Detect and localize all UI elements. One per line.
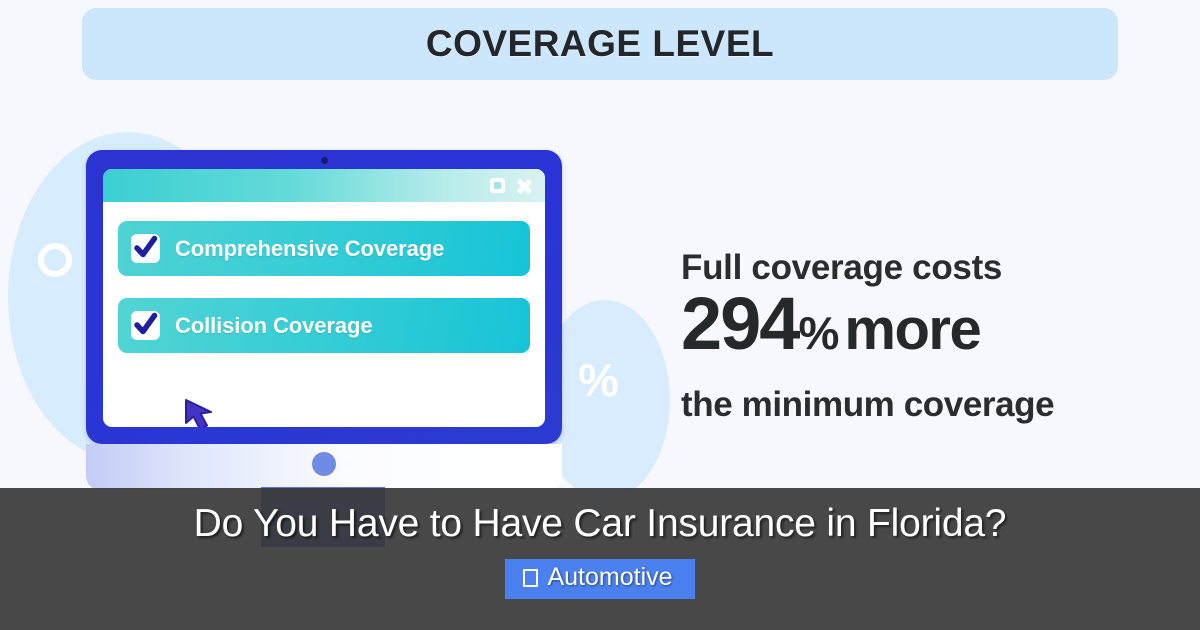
stat-more-word: more bbox=[844, 297, 980, 362]
category-badge-label: Automotive bbox=[547, 563, 672, 592]
checkbox-collision[interactable] bbox=[131, 311, 160, 340]
cursor-arrow-icon bbox=[183, 397, 219, 427]
stat-bottom-line: the minimum coverage bbox=[681, 383, 1121, 427]
maximize-icon[interactable] bbox=[490, 178, 505, 193]
coverage-level-banner: COVERAGE LEVEL bbox=[82, 8, 1118, 80]
stat-percent-sign: % bbox=[798, 307, 838, 359]
window-titlebar bbox=[103, 169, 545, 202]
monitor-screen: Comprehensive Coverage Collision Coverag… bbox=[103, 169, 545, 427]
stat-number: 294 bbox=[681, 282, 798, 365]
category-badge[interactable]: Automotive bbox=[505, 559, 694, 599]
option-row-comprehensive[interactable]: Comprehensive Coverage bbox=[118, 221, 530, 276]
checkbox-comprehensive[interactable] bbox=[131, 234, 160, 263]
option-label-collision: Collision Coverage bbox=[175, 313, 372, 339]
footer-overlay-bar: Do You Have to Have Car Insurance in Flo… bbox=[0, 488, 1200, 630]
monitor-illustration: Comprehensive Coverage Collision Coverag… bbox=[86, 150, 562, 444]
statistic-block: Full coverage costs 294%more the minimum… bbox=[681, 246, 1121, 427]
monitor-base-button bbox=[312, 452, 336, 476]
checkmark-icon bbox=[133, 312, 158, 338]
page-canvas: % COVERAGE LEVEL Comprehensive Coverage bbox=[0, 0, 1200, 630]
close-icon[interactable] bbox=[516, 178, 533, 194]
coverage-option-list: Comprehensive Coverage Collision Coverag… bbox=[103, 202, 545, 353]
page-title: Do You Have to Have Car Insurance in Flo… bbox=[194, 502, 1007, 546]
option-label-comprehensive: Comprehensive Coverage bbox=[175, 236, 444, 262]
option-row-collision[interactable]: Collision Coverage bbox=[118, 298, 530, 353]
checkmark-icon bbox=[133, 235, 158, 261]
monitor-camera-icon bbox=[321, 157, 328, 164]
monitor-base bbox=[86, 444, 562, 490]
ring-circle-decoration bbox=[38, 243, 72, 277]
stat-headline: 294%more bbox=[681, 288, 1121, 381]
banner-title: COVERAGE LEVEL bbox=[426, 23, 774, 65]
percent-symbol-icon: % bbox=[578, 358, 622, 402]
tofu-glyph-icon bbox=[523, 569, 538, 587]
